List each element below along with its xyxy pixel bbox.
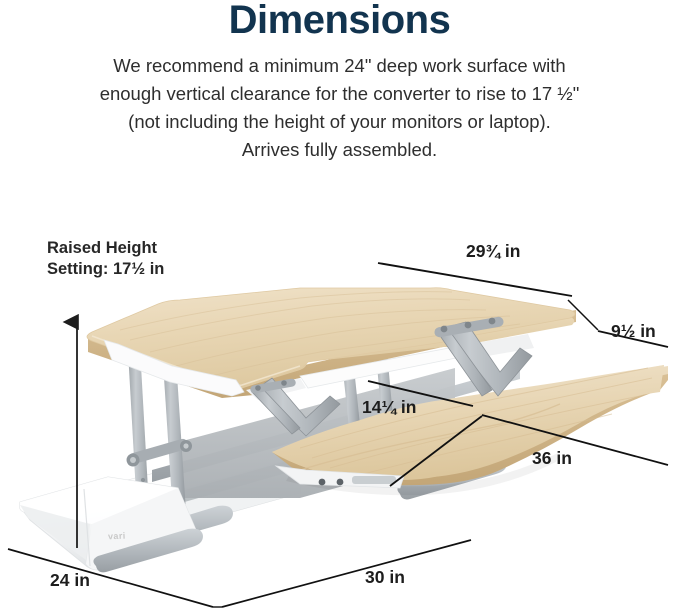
label-top-surface-depth: 9½ in [611, 321, 656, 342]
raised-height-line-1: Raised Height [47, 238, 164, 259]
product-illustration [0, 0, 679, 612]
brand-logo: vari [108, 531, 126, 542]
label-footprint-depth-right: 30 in [365, 567, 405, 588]
leg-screw-1 [141, 478, 145, 482]
raised-height-label: Raised Height Setting: 17½ in [47, 238, 164, 281]
label-overall-width: 36 in [532, 448, 572, 469]
raised-height-line-2: Setting: 17½ in [47, 259, 164, 280]
desk-converter [20, 288, 669, 573]
dimensions-infographic: Dimensions We recommend a minimum 24" de… [0, 0, 679, 612]
footprint-line-30in [222, 540, 471, 607]
label-keyboard-tray-depth: 14¼ in [362, 397, 416, 418]
label-top-surface-width: 29¾ in [466, 241, 520, 262]
label-footprint-depth-left: 24 in [50, 570, 90, 591]
